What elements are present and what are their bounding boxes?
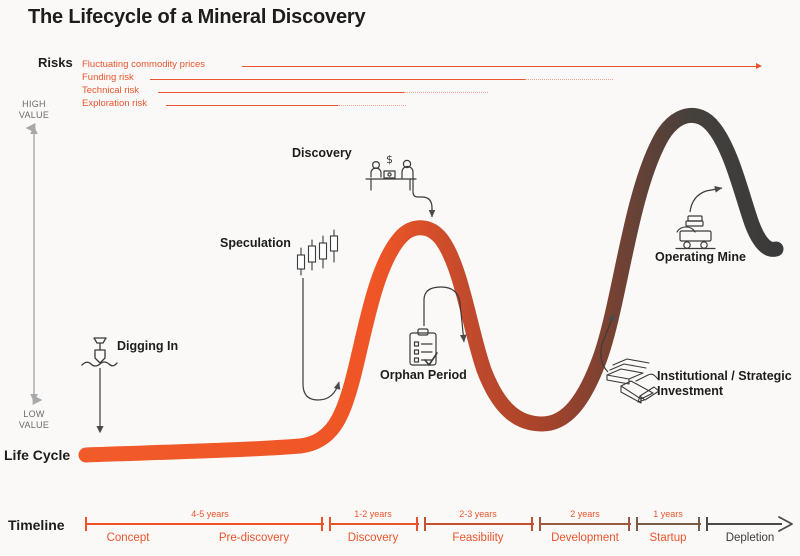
timeline-axis [85,517,792,531]
timeline-phase-concept: Concept [78,532,178,544]
timeline-years-feasibility: 2-3 years [428,509,528,519]
discovery-connector [422,197,432,217]
lifecycle-curve [86,115,776,455]
risk-line-commodity [242,66,756,67]
annotation-label-discovery: Discovery [292,146,352,161]
annotation-label-speculation: Speculation [220,236,291,251]
risk-label-exploration: Exploration risk [82,98,147,109]
candlestick-chart-icon [298,230,338,275]
annotation-label-digging-in: Digging In [117,339,178,354]
timeline-years-startup: 1 years [618,509,718,519]
risk-line-funding [150,79,525,80]
clipboard-checklist-icon [410,329,437,365]
institutional-investment-connector [601,314,614,372]
risk-line-exploration-dotted [338,105,406,106]
risk-line-technical [158,92,404,93]
risk-row-funding: Funding risk [82,74,782,86]
timeline-years-discovery: 1-2 years [323,509,423,519]
page-title: The Lifecycle of a Mineral Discovery [28,6,365,29]
risk-row-commodity: Fluctuating commodity prices [82,61,782,73]
shovel-icon [82,338,117,366]
infographic-root: The Lifecycle of a Mineral Discovery Ris… [0,0,800,556]
lifecycle-row-label: Life Cycle [4,447,70,463]
risk-line-technical-dotted [404,92,488,93]
timeline-row-label: Timeline [8,517,65,533]
timeline-phase-discovery: Discovery [323,532,423,544]
speculation-connector [303,278,339,400]
timeline-phase-depletion: Depletion [700,532,800,544]
axis-high-value-line2: VALUE [6,110,62,121]
svg-text:$: $ [386,153,393,166]
risk-line-exploration [166,105,338,106]
annotation-label-operating-mine: Operating Mine [655,250,746,265]
annotation-label-orphan-period: Orphan Period [380,368,467,383]
annotation-label-institutional-line2: Investment [657,384,723,398]
mine-cart-icon [676,216,715,249]
money-document-pen-icon [607,359,659,403]
risk-row-exploration: Exploration risk [82,100,782,112]
timeline-years-pre-discovery: 4-5 years [150,509,270,519]
risk-arrow-commodity [756,63,762,69]
axis-low-value-line1: LOW [6,409,62,420]
operating-mine-connector [690,188,722,212]
timeline-phase-pre-discovery: Pre-discovery [194,532,314,544]
risk-label-technical: Technical risk [82,85,139,96]
deal-handshake-money-icon: $ [366,153,422,197]
risks-heading: Risks [38,55,73,70]
risk-line-funding-dotted [525,79,613,80]
orphan-period-connector [424,287,464,342]
risk-label-funding: Funding risk [82,72,134,83]
value-axis-arrow [30,126,38,402]
risk-row-technical: Technical risk [82,87,782,99]
axis-low-value-line2: VALUE [6,420,62,431]
axis-high-value-line1: HIGH [6,99,62,110]
risk-label-commodity: Fluctuating commodity prices [82,59,205,70]
annotation-label-institutional: Institutional / Strategic Investment [657,369,792,399]
annotation-label-institutional-line1: Institutional / Strategic [657,369,792,383]
timeline-phase-feasibility: Feasibility [428,532,528,544]
